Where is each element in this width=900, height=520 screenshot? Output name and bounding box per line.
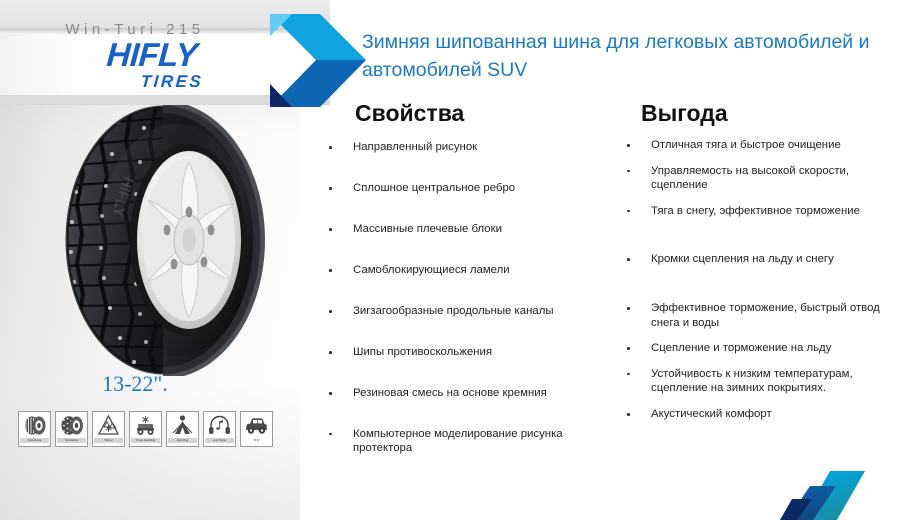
directional-tire-icon	[21, 414, 48, 437]
badge-label: SUV	[242, 438, 271, 443]
suv-car-icon	[243, 414, 270, 437]
badge-label: Directional	[20, 438, 49, 443]
studdable-tire-icon	[58, 414, 85, 437]
list-item: Сцепление и торможение на льду	[624, 341, 886, 356]
list-item: Компьютерное моделирование рисунка проте…	[326, 427, 616, 456]
benefits-list: Отличная тяга и быстрое очищение Управля…	[624, 138, 886, 433]
badge-label: Winter	[94, 438, 123, 443]
features-heading: Свойства	[355, 100, 464, 127]
benefits-heading: Выгода	[641, 100, 728, 127]
list-item: Отличная тяга и быстрое очищение	[624, 138, 886, 153]
badge-low-noise[interactable]: Low Noise	[203, 411, 236, 447]
chevron-arrow-icon	[258, 12, 368, 112]
badge-label: Handling	[168, 438, 197, 443]
feature-badge-row: Directional Studdable	[18, 411, 273, 447]
badge-label: Studdable	[57, 438, 86, 443]
list-item: Управляемость на высокой скорости, сцепл…	[624, 164, 886, 193]
list-item: Зигзагообразные продольные каналы	[326, 304, 616, 319]
badge-snow-handling[interactable]: Snow Handling	[129, 411, 162, 447]
handling-icon	[169, 414, 196, 437]
page-title: Зимняя шипованная шина для легковых авто…	[362, 28, 882, 84]
low-noise-icon	[206, 414, 233, 437]
list-item: Эффективное торможение, быстрый отвод сн…	[624, 301, 886, 330]
tire-size-label: 13-22".	[0, 371, 270, 397]
badge-studdable[interactable]: Studdable	[55, 411, 88, 447]
badge-handling[interactable]: Handling	[166, 411, 199, 447]
corner-slash-decoration	[780, 454, 900, 520]
logo-secondary-text: TIRES	[51, 73, 252, 90]
list-item: Шипы противоскольжения	[326, 345, 616, 360]
list-item: Массивные плечевые блоки	[326, 222, 616, 237]
badge-label: Snow Handling	[131, 438, 160, 443]
list-item: Сплошное центральное ребро	[326, 181, 616, 196]
list-item: Устойчивость к низким температурам, сцеп…	[624, 367, 886, 396]
badge-suv[interactable]: SUV	[240, 411, 273, 447]
badge-directional[interactable]: Directional	[18, 411, 51, 447]
badge-winter[interactable]: Winter	[92, 411, 125, 447]
slide-canvas: HIFLY 13-22".	[0, 0, 900, 520]
list-item: Направленный рисунок	[326, 140, 616, 155]
list-item: Кромки сцепления на льду и снегу	[624, 252, 886, 267]
tire-product-image: HIFLY	[48, 104, 278, 376]
snow-handling-icon	[132, 414, 159, 437]
logo-primary-text: HIFLY	[51, 38, 253, 71]
list-item: Акустический комфорт	[624, 407, 886, 422]
list-item: Тяга в снегу, эффективное торможение	[624, 204, 886, 219]
badge-label: Low Noise	[205, 438, 234, 443]
features-list: Направленный рисунок Сплошное центрально…	[326, 140, 616, 482]
list-item: Резиновая смесь на основе кремния	[326, 386, 616, 401]
hifly-logo: HIFLY TIRES	[52, 38, 252, 90]
list-item: Самоблокирующиеся ламели	[326, 263, 616, 278]
winter-snowflake-icon	[95, 414, 122, 437]
